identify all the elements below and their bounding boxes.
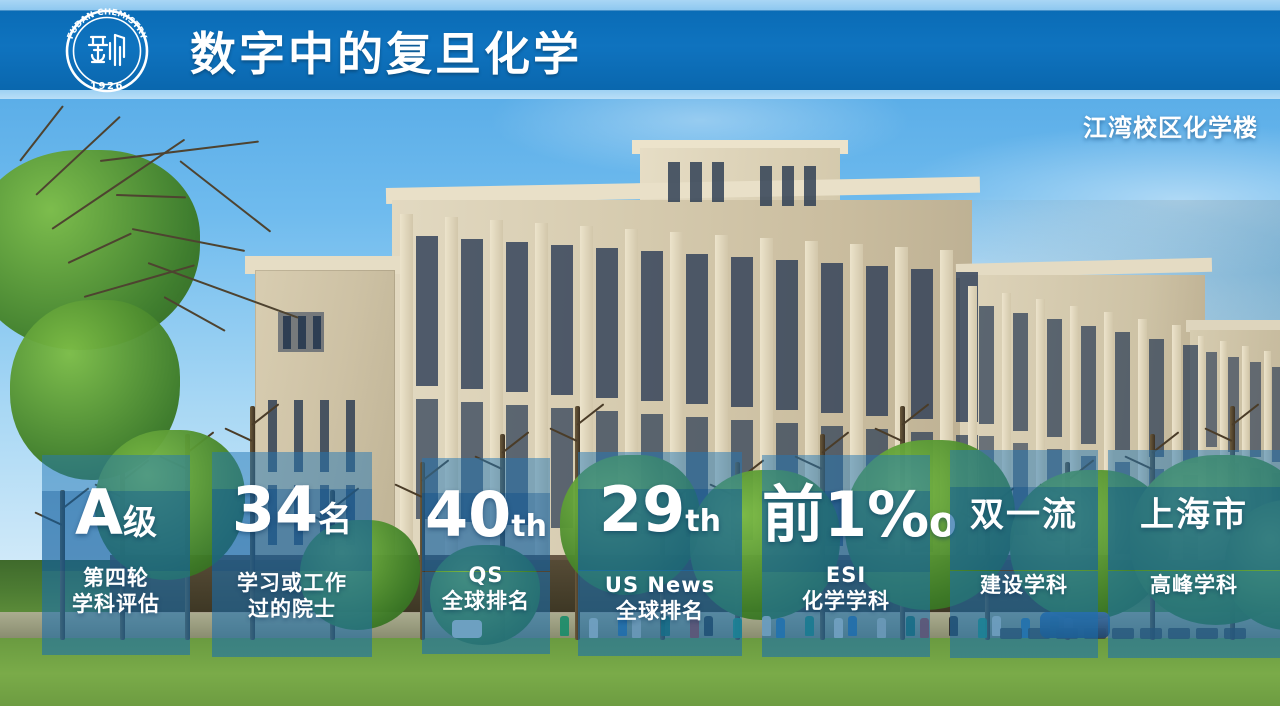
stat-value: 40th [422,484,550,546]
stat-value-suffix: 名 [318,500,352,540]
stat-label-line1: QS [422,562,550,588]
stat-value-number: 34 [232,473,318,546]
stat-value-suffix: th [685,504,721,539]
stat-value-number: 29 [599,473,685,546]
stat-card-2: 34名学习或工作过的院士 [212,452,372,657]
stat-value-number: 前1‰ [762,478,956,551]
stat-label-line1: 学习或工作 [212,570,372,596]
stat-label-line2: 建设学科 [950,572,1098,598]
stat-card-7: 上海市高峰学科 [1108,450,1280,658]
stat-label: ESI化学学科 [762,562,930,614]
stat-value-number: 双一流 [970,495,1078,535]
stat-label: 建设学科 [950,572,1098,598]
stat-label-line1: 第四轮 [42,565,190,591]
stat-label-line2: 化学学科 [762,588,930,614]
stats-card-band: A级第四轮学科评估34名学习或工作过的院士40thQS全球排名29thUS Ne… [0,0,1280,706]
stat-value-suffix: th [511,509,547,544]
stat-value-number: A [75,476,123,549]
stat-label: 第四轮学科评估 [42,565,190,617]
stat-card-1: A级第四轮学科评估 [42,455,190,655]
stat-label-line1: ESI [762,562,930,588]
stat-card-6: 双一流建设学科 [950,450,1098,658]
stat-value: 上海市 [1108,498,1280,532]
stat-label-line2: 全球排名 [422,588,550,614]
stat-value-number: 上海市 [1140,495,1248,535]
stat-card-3: 40thQS全球排名 [422,458,550,654]
stat-value: 双一流 [950,498,1098,532]
stat-label-line2: 全球排名 [578,598,742,624]
stat-label-line2: 过的院士 [212,596,372,622]
stat-label-line2: 高峰学科 [1108,572,1280,598]
stat-label: QS全球排名 [422,562,550,614]
stat-value-suffix: 级 [123,503,157,543]
stat-card-4: 29thUS News全球排名 [578,452,742,656]
stat-label-line2: 学科评估 [42,591,190,617]
stat-label-line1: US News [578,572,742,598]
card-overlay-top [950,450,1098,487]
stat-value: 34名 [212,479,372,541]
poster-root: FUDAN CHEMISTRY 1926 数字中的复旦化学 [0,0,1280,706]
stat-label: 学习或工作过的院士 [212,570,372,622]
stat-card-5: 前1‰ESI化学学科 [762,455,930,657]
stat-label: US News全球排名 [578,572,742,624]
stat-value: 前1‰ [762,484,930,546]
stat-label: 高峰学科 [1108,572,1280,598]
card-overlay-top [1108,450,1280,487]
stat-value: A级 [42,482,190,544]
stat-value: 29th [578,479,742,541]
stat-value-number: 40 [425,478,511,551]
